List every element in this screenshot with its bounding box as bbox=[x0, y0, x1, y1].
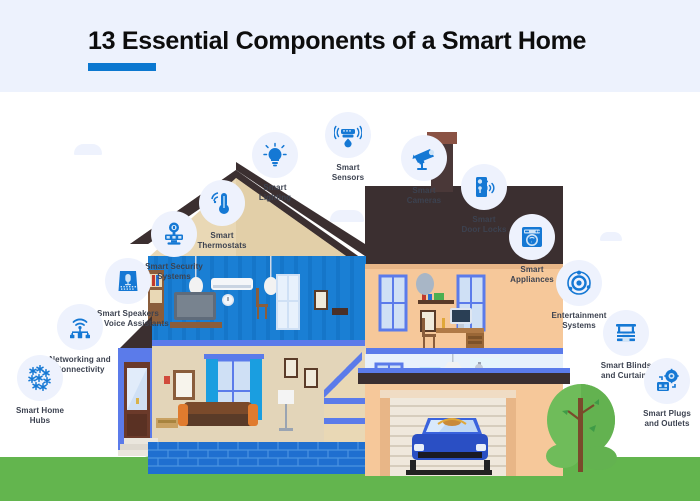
illustration-scene: SmartThermostats SmartLigh bbox=[0, 92, 700, 501]
security-panel-icon bbox=[151, 211, 197, 257]
hub-nodes-icon bbox=[17, 355, 63, 401]
infographic-page: 13 Essential Components of a Smart Home … bbox=[0, 0, 700, 501]
cloud-4 bbox=[600, 232, 622, 241]
component-smart-plugs[interactable]: Smart Plugsand Outlets bbox=[597, 358, 700, 429]
door-lock-icon bbox=[461, 164, 507, 210]
component-label: Smart HomeHubs bbox=[0, 406, 110, 426]
component-smart-home-hubs[interactable]: Smart HomeHubs bbox=[0, 355, 110, 426]
blinds-icon bbox=[603, 310, 649, 356]
washing-machine-icon bbox=[509, 214, 555, 260]
page-title: 13 Essential Components of a Smart Home bbox=[88, 27, 586, 56]
component-label: Smart Plugsand Outlets bbox=[597, 409, 700, 429]
plug-outlet-icon bbox=[644, 358, 690, 404]
component-label: SmartLighting bbox=[205, 183, 345, 203]
network-wifi-icon bbox=[57, 304, 103, 350]
smart-speaker-icon bbox=[105, 258, 151, 304]
media-orbit-icon bbox=[556, 260, 602, 306]
cloud-1 bbox=[74, 144, 102, 155]
page-header: 13 Essential Components of a Smart Home bbox=[0, 0, 700, 92]
title-accent-rule bbox=[88, 63, 156, 71]
